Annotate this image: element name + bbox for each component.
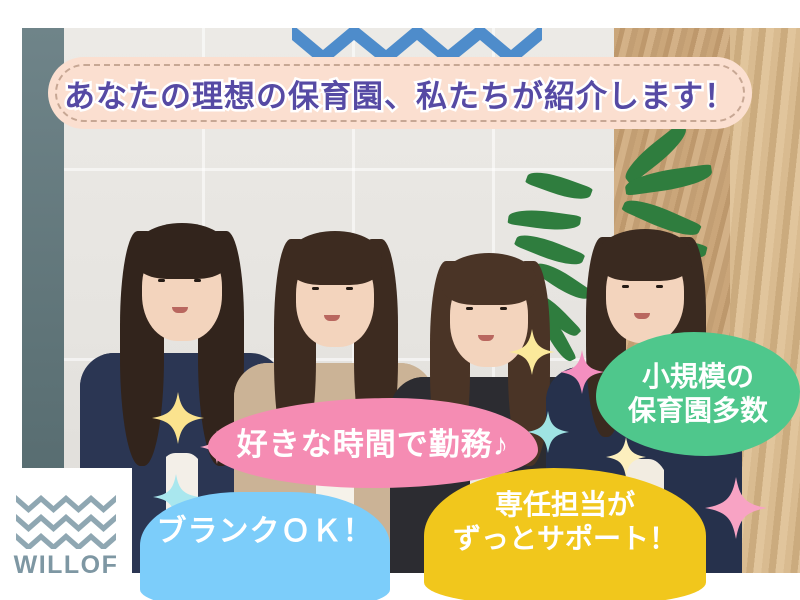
bubble-yellow-line1: 専任担当が bbox=[453, 488, 677, 522]
bubble-blue-text: ブランクＯＫ！ bbox=[157, 514, 374, 551]
willof-logo: WILLOF bbox=[0, 468, 132, 600]
bubble-blank-ok: ブランクＯＫ！ bbox=[140, 492, 390, 600]
poster-root: WILLOF bbox=[0, 0, 800, 600]
sparkle-yellow-left bbox=[152, 392, 204, 444]
headline-text: あなたの理想の保育園、私たちが紹介します！ bbox=[48, 57, 752, 129]
headline-banner: あなたの理想の保育園、私たちが紹介します！ bbox=[48, 57, 752, 129]
bubble-green-line2: 保育園多数 bbox=[628, 394, 768, 428]
bubble-yellow-line2: ずっとサポート！ bbox=[453, 522, 677, 556]
bubble-small-nurseries: 小規模の 保育園多数 bbox=[596, 332, 800, 456]
zigzag-icon bbox=[16, 493, 116, 549]
sparkle-pink-right bbox=[705, 477, 767, 539]
bubble-dedicated-support: 専任担当が ずっとサポート！ bbox=[424, 468, 706, 600]
bubble-pink-text: 好きな時間で勤務♪ bbox=[237, 426, 510, 464]
willof-logo-text: WILLOF bbox=[14, 551, 119, 580]
sparkle-yellow-mid bbox=[509, 329, 555, 375]
bubble-green-line1: 小規模の bbox=[628, 360, 768, 394]
